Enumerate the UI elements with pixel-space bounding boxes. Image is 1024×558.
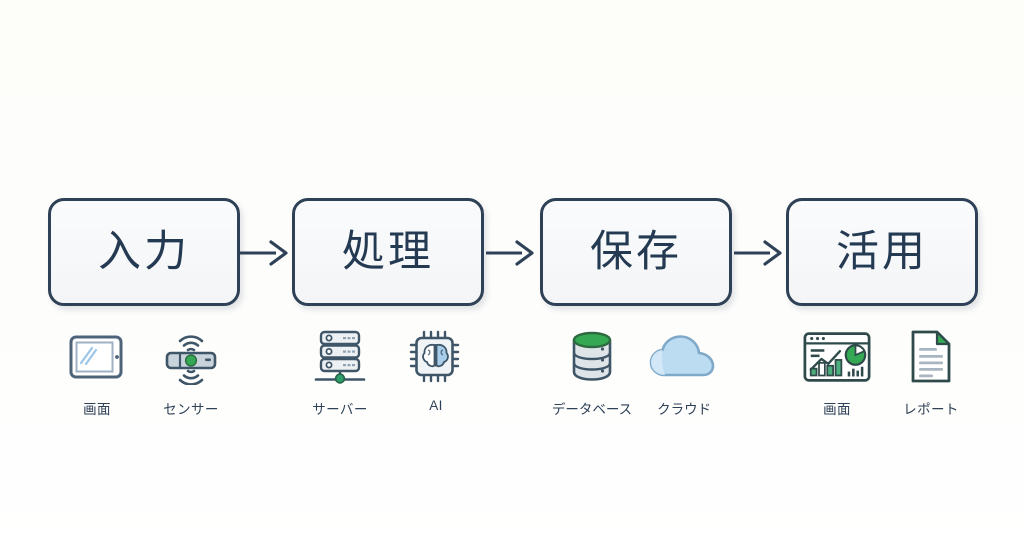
stage-box-input[interactable]: 入力 <box>48 198 240 306</box>
icon-item-server[interactable]: サーバー <box>304 328 376 418</box>
icon-group-process: サーバー <box>286 328 490 418</box>
icon-item-tablet-screen[interactable]: 画面 <box>61 328 133 418</box>
icon-group-store: データベース クラウド <box>528 328 744 418</box>
server-rack-icon <box>304 328 376 386</box>
arrow-process-to-store <box>486 236 538 270</box>
icon-item-report[interactable]: レポート <box>895 328 967 418</box>
icon-caption-ai-chip: AI <box>429 398 443 413</box>
arrow-store-to-utilize <box>734 236 786 270</box>
ai-chip-icon <box>400 328 472 386</box>
stage-box-utilize[interactable]: 活用 <box>786 198 978 306</box>
icon-item-sensor[interactable]: センサー <box>155 328 227 418</box>
icon-caption-server: サーバー <box>312 398 367 418</box>
icon-caption-database: データベース <box>552 398 632 418</box>
database-icon <box>556 328 628 386</box>
icon-caption-cloud: クラウド <box>657 398 711 418</box>
icon-caption-tablet-screen: 画面 <box>83 398 111 418</box>
report-document-icon <box>895 328 967 386</box>
tablet-screen-icon <box>61 328 133 386</box>
icon-item-database[interactable]: データベース <box>552 328 632 418</box>
icon-item-cloud[interactable]: クラウド <box>648 328 720 418</box>
stage-label-process: 処理 <box>342 231 434 274</box>
arrow-input-to-process <box>240 236 292 270</box>
icon-group-utilize: 画面 レポート <box>780 328 988 418</box>
diagram-canvas: 入力 処理 保存 活用 <box>0 0 1024 558</box>
icon-item-dashboard[interactable]: 画面 <box>801 328 873 418</box>
icon-caption-sensor: センサー <box>163 398 219 418</box>
stage-label-store: 保存 <box>590 231 682 274</box>
stage-box-process[interactable]: 処理 <box>292 198 484 306</box>
cloud-icon <box>648 328 720 386</box>
stage-label-input: 入力 <box>98 231 190 274</box>
stage-box-store[interactable]: 保存 <box>540 198 732 306</box>
dashboard-icon <box>801 328 873 386</box>
sensor-icon <box>155 328 227 386</box>
icon-group-input: 画面 センサー <box>40 328 248 418</box>
icon-caption-dashboard: 画面 <box>823 398 851 418</box>
stage-label-utilize: 活用 <box>836 231 928 274</box>
icon-item-ai-chip[interactable]: AI <box>400 328 472 413</box>
icon-caption-report: レポート <box>903 398 959 418</box>
